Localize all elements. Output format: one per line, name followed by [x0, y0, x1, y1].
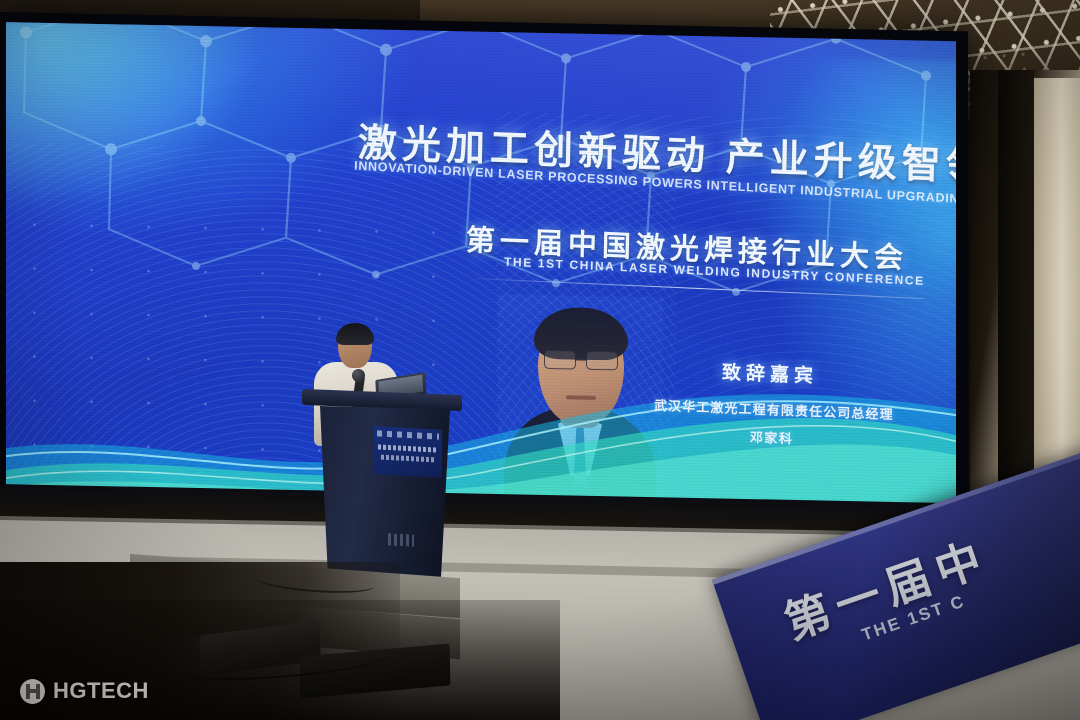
podium-title-line-1: [378, 444, 438, 452]
screen-text-layer: 激光加工创新驱动 产业升级智领未来 INNOVATION-DRIVEN LASE…: [6, 22, 956, 523]
microphone-head-icon: [352, 369, 365, 382]
led-screen-frame: 激光加工创新驱动 产业升级智领未来 INNOVATION-DRIVEN LASE…: [0, 12, 968, 541]
guest-label: 致辞嘉宾: [722, 358, 819, 389]
speaker-glasses-icon: [341, 342, 370, 350]
podium-lower-mark: [388, 533, 414, 546]
podium: [300, 392, 464, 584]
led-screen: 激光加工创新驱动 产业升级智领未来 INNOVATION-DRIVEN LASE…: [6, 22, 956, 523]
hgtech-logo-icon: [20, 679, 45, 704]
podium-sponsor-logos: [377, 430, 439, 439]
podium-title-line-2: [381, 455, 435, 463]
podium-graphic-panel: [374, 426, 442, 478]
hgtech-brand-text: HGTECH: [53, 678, 149, 704]
hgtech-watermark: HGTECH: [20, 678, 149, 704]
guest-name: 邓家科: [750, 427, 794, 448]
conference-stage-photo: 激光加工创新驱动 产业升级智领未来 INNOVATION-DRIVEN LASE…: [0, 0, 1080, 720]
guest-organization: 武汉华工激光工程有限责任公司总经理: [654, 395, 894, 423]
